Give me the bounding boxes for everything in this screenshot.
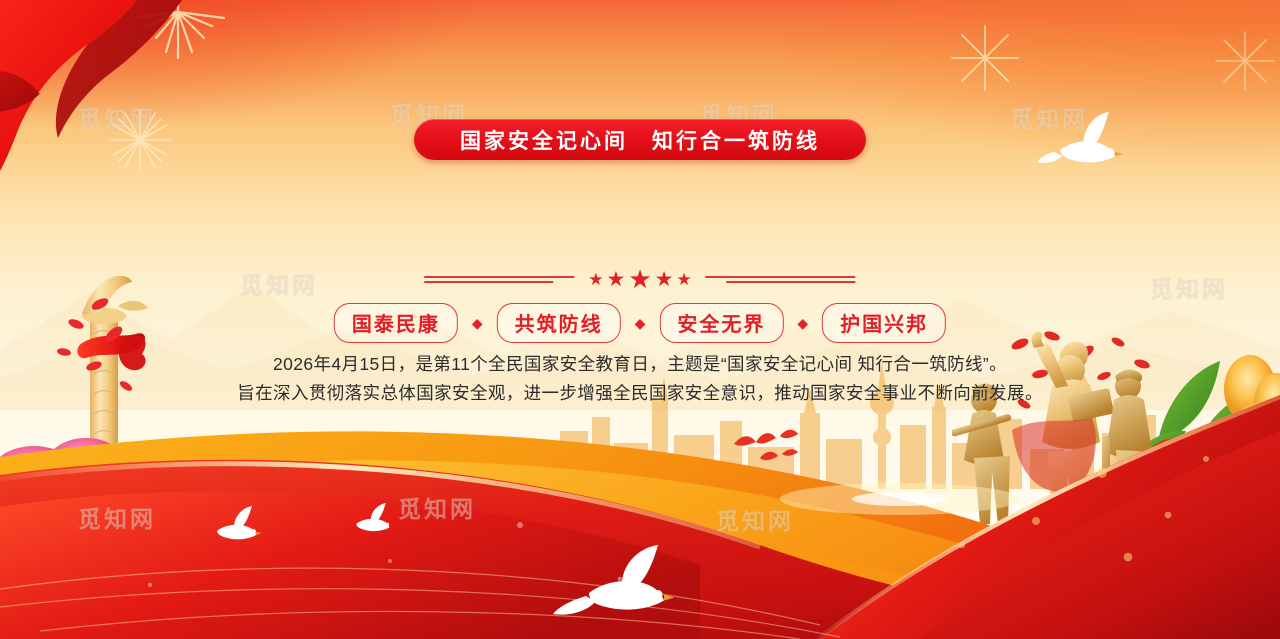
star-icon: ★ <box>607 269 626 290</box>
body-line-1: 2026年4月15日，是第11个全民国家安全教育日，主题是“国家安全记心间 知行… <box>100 350 1180 379</box>
body-line-2: 旨在深入贯彻落实总体国家安全观，进一步增强全民国家安全意识，推动国家安全事业不断… <box>100 379 1180 408</box>
poster-content: 国家安全记心间 知行合一筑防线 2026年全民国家安全教育日 ★ ★ ★ ★ ★… <box>0 0 1280 639</box>
slogan-tag-group: 国泰民康 ◆ 共筑防线 ◆ 安全无界 ◆ 护国兴邦 <box>334 303 946 343</box>
star-icon: ★ <box>628 266 651 292</box>
header-slogan-banner: 国家安全记心间 知行合一筑防线 <box>414 119 866 160</box>
slogan-tag-1: 国泰民康 <box>334 303 458 343</box>
diamond-separator-icon: ◆ <box>472 315 483 332</box>
slogan-tag-4: 护国兴邦 <box>822 303 946 343</box>
body-paragraph: 2026年4月15日，是第11个全民国家安全教育日，主题是“国家安全记心间 知行… <box>100 350 1180 408</box>
star-icon: ★ <box>588 271 603 288</box>
star-icon: ★ <box>676 271 691 288</box>
divider-line-left <box>424 276 574 283</box>
slogan-tag-2: 共筑防线 <box>497 303 621 343</box>
poster-canvas: 觅知网 觅知网 觅知网 觅知网 觅知网 觅知网 觅知网 觅知网 觅知网 国家安全… <box>0 0 1280 639</box>
diamond-separator-icon: ◆ <box>797 315 808 332</box>
diamond-separator-icon: ◆ <box>635 315 646 332</box>
divider-line-right <box>706 276 856 283</box>
star-icon: ★ <box>655 269 674 290</box>
slogan-tag-3: 安全无界 <box>659 303 783 343</box>
star-divider: ★ ★ ★ ★ ★ <box>424 266 855 292</box>
star-group: ★ ★ ★ ★ ★ <box>588 266 691 292</box>
